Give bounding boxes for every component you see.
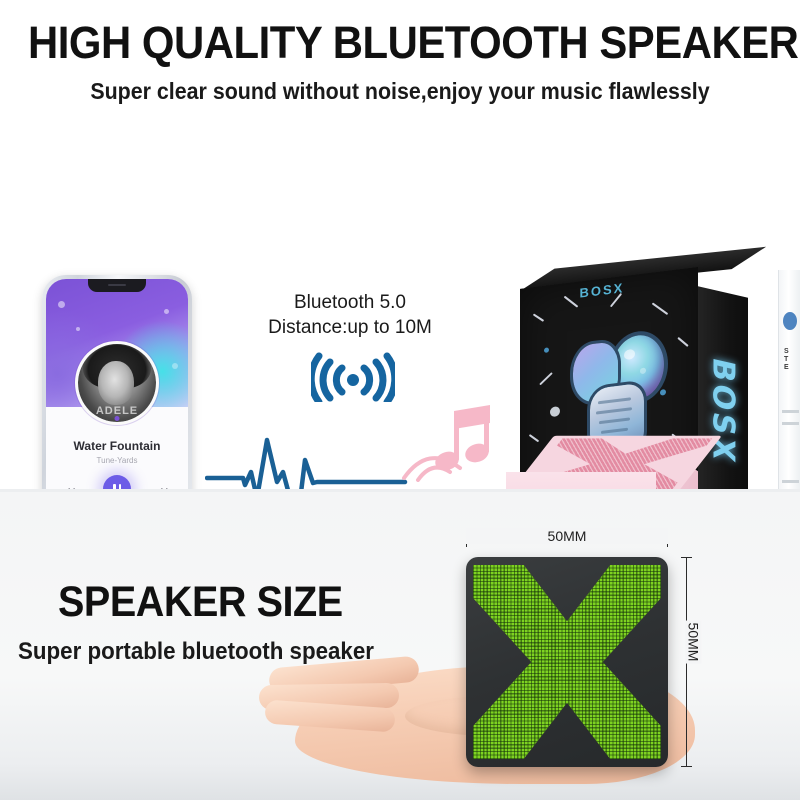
height-dimension-label: 50MM xyxy=(685,621,701,664)
edge-text: STE xyxy=(784,348,789,372)
product-infographic: HIGH QUALITY BLUETOOTH SPEAKER Super cle… xyxy=(0,0,800,800)
song-artist: Tune-Yards xyxy=(46,456,188,465)
album-art: ADELE xyxy=(75,341,159,425)
page-subtitle: Super clear sound without noise,enjoy yo… xyxy=(28,78,772,105)
song-title: Water Fountain xyxy=(46,439,188,453)
decor-bubble xyxy=(58,301,65,308)
features-panel: ADELE Water Fountain Tune-Yards ≪ ≫ ◁ ◁ xyxy=(0,120,800,490)
brand-logo-side: BOSX xyxy=(706,354,741,467)
helmet-glare xyxy=(624,348,635,360)
album-art-face xyxy=(98,361,134,405)
music-note-icon xyxy=(428,403,508,483)
bluetooth-info: Bluetooth 5.0 Distance:up to 10M xyxy=(245,290,455,340)
bluetooth-distance-label: Distance:up to 10M xyxy=(245,315,455,340)
decor-bubble xyxy=(164,309,169,314)
green-speaker xyxy=(466,557,668,767)
header-section: HIGH QUALITY BLUETOOTH SPEAKER Super cle… xyxy=(0,0,800,120)
x-grille-logo xyxy=(473,565,661,759)
progress-ring-knob[interactable] xyxy=(115,416,120,421)
edge-logo-icon xyxy=(783,312,797,330)
earpiece-speaker-icon xyxy=(108,284,126,286)
decor-bubble xyxy=(76,327,80,331)
width-dimension-label: 50MM xyxy=(466,528,668,544)
helmet-glare xyxy=(640,368,646,375)
phone-notch xyxy=(88,279,146,292)
bluetooth-version-label: Bluetooth 5.0 xyxy=(245,290,455,315)
decor-bubble xyxy=(172,363,178,369)
wireless-signal-icon xyxy=(311,348,395,402)
page-title: HIGH QUALITY BLUETOOTH SPEAKER xyxy=(28,18,772,68)
